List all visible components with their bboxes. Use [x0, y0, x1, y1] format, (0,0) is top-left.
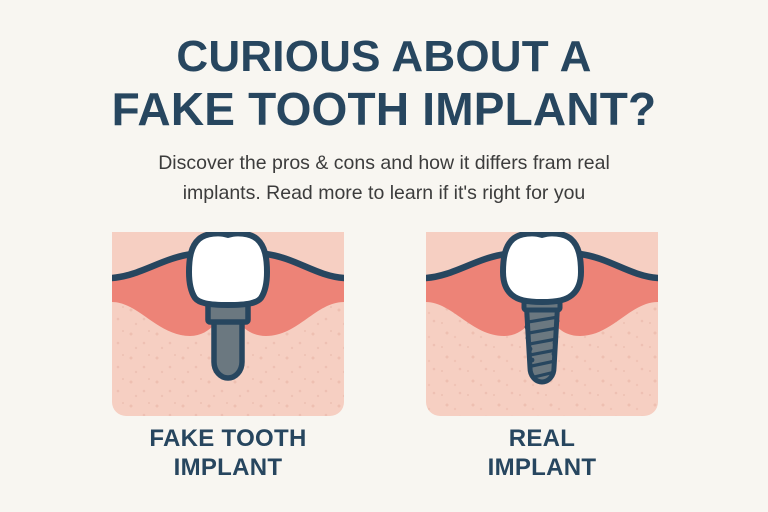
panel-fake-tooth-implant: FAKE TOOTH IMPLANT: [100, 232, 356, 512]
fake-tooth-implant-illustration: [100, 232, 356, 417]
headline-line-2: FAKE TOOTH IMPLANT?: [0, 83, 768, 136]
subtitle-line-1: Discover the pros & cons and how it diff…: [84, 148, 684, 178]
panel-label-line-1: REAL: [414, 424, 670, 453]
real-implant-illustration: [414, 232, 670, 417]
subtitle-line-2: implants. Read more to learn if it's rig…: [84, 178, 684, 208]
panel-label-line-1: FAKE TOOTH: [100, 424, 356, 453]
headline-line-1: CURIOUS ABOUT A: [0, 30, 768, 83]
panel-label-fake-tooth-implant: FAKE TOOTH IMPLANT: [100, 424, 356, 482]
panel-real-implant: REAL IMPLANT: [414, 232, 670, 512]
panel-label-line-2: IMPLANT: [414, 453, 670, 482]
poster-canvas: CURIOUS ABOUT A FAKE TOOTH IMPLANT? Disc…: [0, 0, 768, 512]
page-title: CURIOUS ABOUT A FAKE TOOTH IMPLANT?: [0, 30, 768, 136]
panel-label-line-2: IMPLANT: [100, 453, 356, 482]
implant-comparison-diagrams: FAKE TOOTH IMPLANT: [0, 232, 768, 512]
panel-label-real-implant: REAL IMPLANT: [414, 424, 670, 482]
subtitle: Discover the pros & cons and how it diff…: [84, 148, 684, 208]
